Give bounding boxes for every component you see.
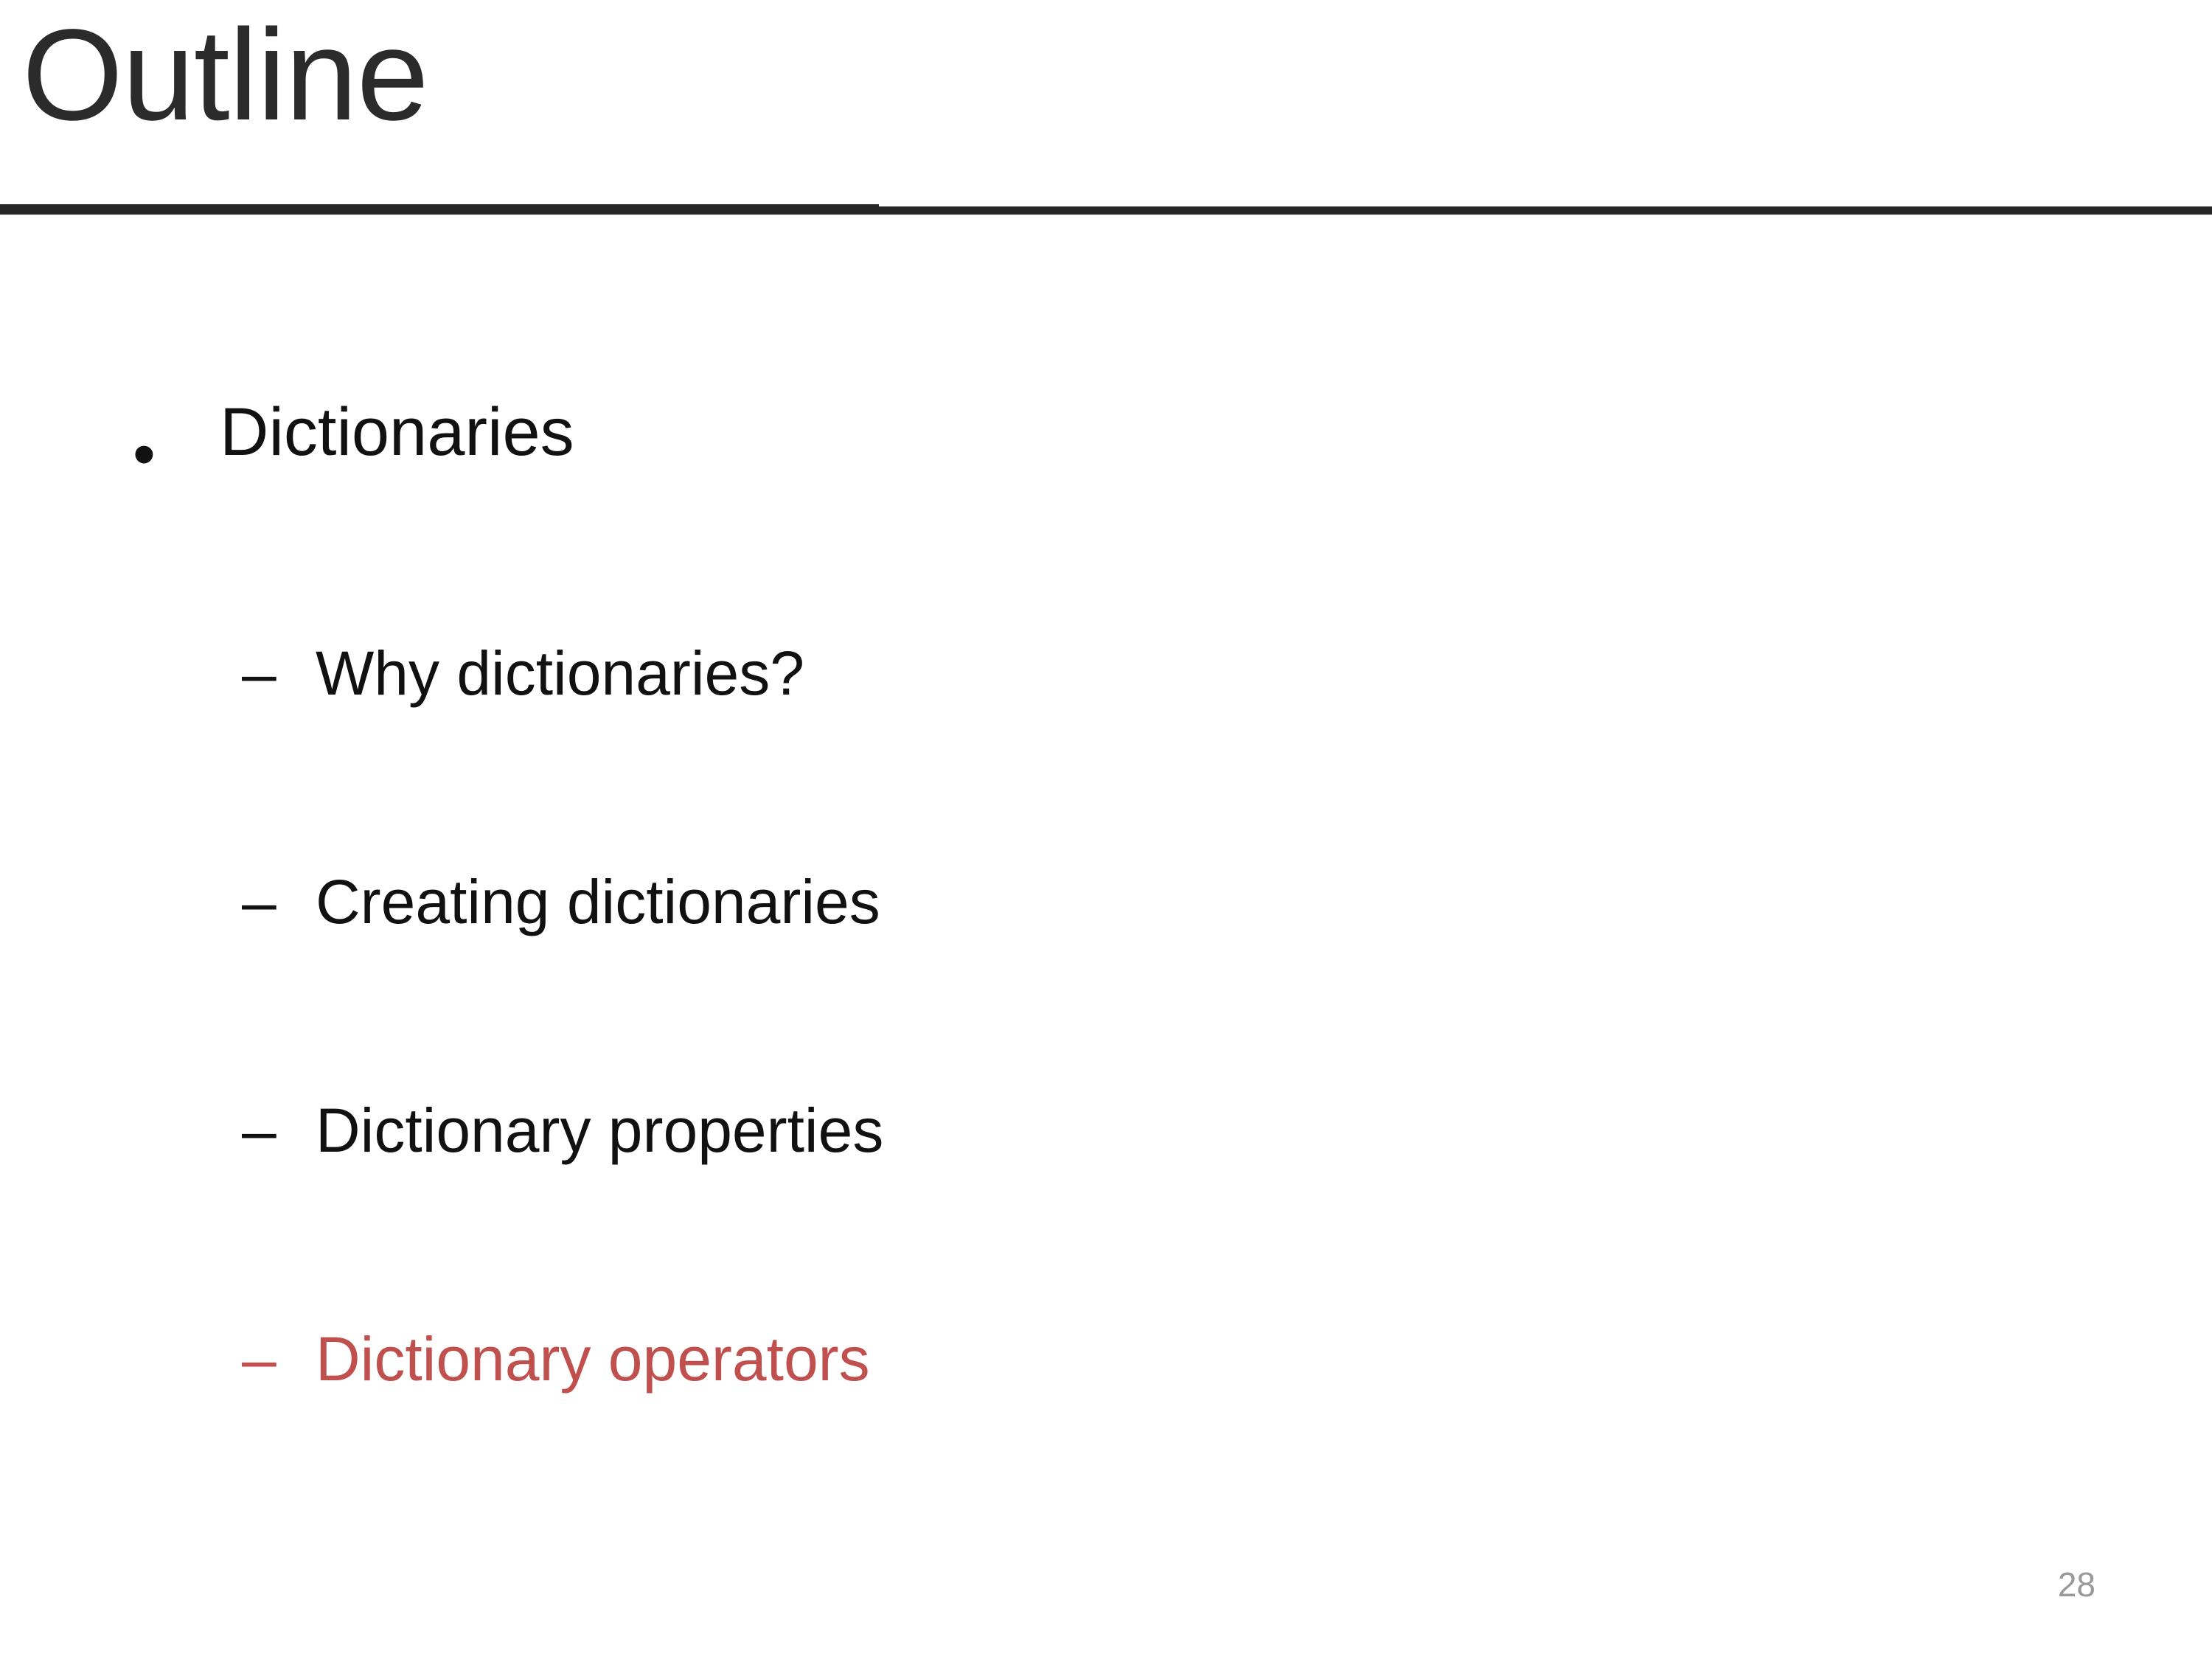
sub-bullet-item-dictionary-operators: – Dictionary operators	[0, 1324, 1770, 1411]
sub-bullet-label: Creating dictionaries	[316, 867, 880, 936]
slide: Outline • Dictionaries – Why dictionarie…	[0, 0, 2212, 1659]
sub-bullet-item-why-dictionaries: – Why dictionaries?	[0, 639, 1770, 726]
slide-body: • Dictionaries – Why dictionaries? – Cre…	[0, 0, 2212, 1659]
sub-bullet-item-dictionary-properties: – Dictionary properties	[0, 1096, 1770, 1183]
bullet-label: Dictionaries	[220, 395, 574, 470]
bullet-item-dictionaries: • Dictionaries	[0, 395, 1770, 491]
en-dash-icon: –	[242, 1324, 276, 1394]
page-number: 28	[2058, 1568, 2096, 1601]
sub-bullet-label: Dictionary properties	[316, 1096, 883, 1165]
sub-bullet-label: Dictionary operators	[316, 1324, 870, 1394]
sub-bullet-label: Why dictionaries?	[316, 639, 804, 708]
en-dash-icon: –	[242, 867, 276, 936]
en-dash-icon: –	[242, 639, 276, 708]
en-dash-icon: –	[242, 1096, 276, 1165]
bullet-dot-icon: •	[133, 422, 167, 487]
sub-bullet-item-creating-dictionaries: – Creating dictionaries	[0, 867, 1770, 954]
